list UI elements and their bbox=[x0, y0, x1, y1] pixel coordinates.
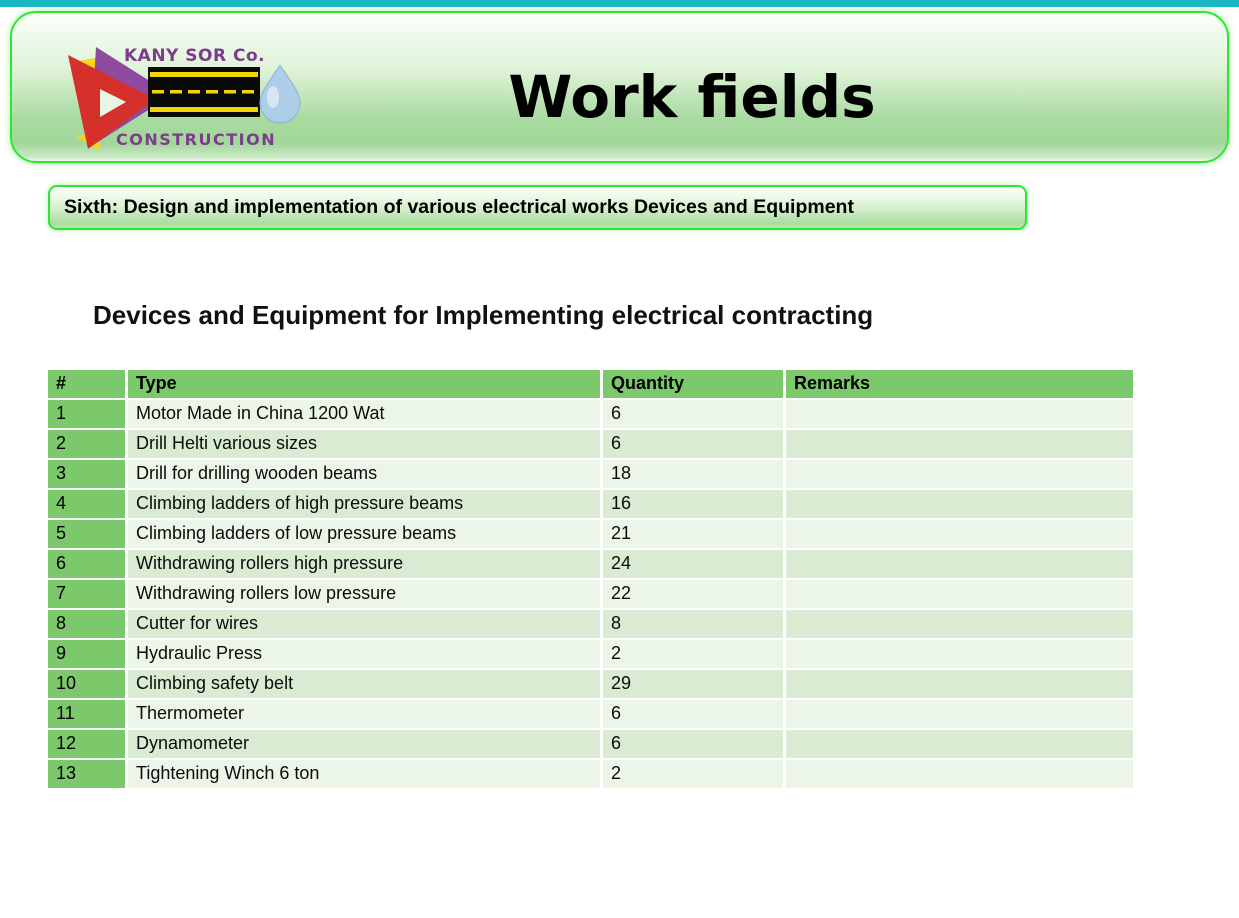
company-logo: KANY SOR Co. CONSTRUCTION bbox=[60, 39, 310, 154]
table-row: 12Dynamometer6 bbox=[48, 730, 1133, 760]
cell-remarks bbox=[786, 670, 1133, 700]
table-row: 9Hydraulic Press2 bbox=[48, 640, 1133, 670]
cell-quantity: 8 bbox=[603, 610, 786, 640]
cell-type: Cutter for wires bbox=[128, 610, 603, 640]
cell-quantity: 29 bbox=[603, 670, 786, 700]
column-header-quantity: Quantity bbox=[603, 370, 786, 398]
column-header-remarks: Remarks bbox=[786, 370, 1133, 398]
column-header-type: Type bbox=[128, 370, 603, 398]
header-banner: KANY SOR Co. CONSTRUCTION Work fields bbox=[10, 11, 1229, 163]
top-accent-bar bbox=[0, 0, 1239, 7]
cell-remarks bbox=[786, 580, 1133, 610]
cell-type: Dynamometer bbox=[128, 730, 603, 760]
equipment-table: # Type Quantity Remarks 1Motor Made in C… bbox=[48, 370, 1133, 790]
cell-type: Thermometer bbox=[128, 700, 603, 730]
cell-remarks bbox=[786, 460, 1133, 490]
cell-number: 3 bbox=[48, 460, 128, 490]
cell-remarks bbox=[786, 760, 1133, 790]
table-header-row: # Type Quantity Remarks bbox=[48, 370, 1133, 398]
cell-type: Motor Made in China 1200 Wat bbox=[128, 398, 603, 430]
cell-type: Drill for drilling wooden beams bbox=[128, 460, 603, 490]
table-row: 13Tightening Winch 6 ton2 bbox=[48, 760, 1133, 790]
cell-quantity: 6 bbox=[603, 398, 786, 430]
column-header-number: # bbox=[48, 370, 128, 398]
cell-remarks bbox=[786, 430, 1133, 460]
table-row: 7Withdrawing rollers low pressure22 bbox=[48, 580, 1133, 610]
cell-type: Climbing safety belt bbox=[128, 670, 603, 700]
cell-number: 9 bbox=[48, 640, 128, 670]
cell-number: 8 bbox=[48, 610, 128, 640]
table-row: 3Drill for drilling wooden beams18 bbox=[48, 460, 1133, 490]
svg-text:KANY SOR Co.: KANY SOR Co. bbox=[124, 46, 265, 66]
table-row: 6Withdrawing rollers high pressure24 bbox=[48, 550, 1133, 580]
cell-type: Climbing ladders of low pressure beams bbox=[128, 520, 603, 550]
cell-remarks bbox=[786, 490, 1133, 520]
cell-type: Climbing ladders of high pressure beams bbox=[128, 490, 603, 520]
cell-quantity: 22 bbox=[603, 580, 786, 610]
table-header: # Type Quantity Remarks bbox=[48, 370, 1133, 398]
cell-remarks bbox=[786, 730, 1133, 760]
table-row: 2Drill Helti various sizes6 bbox=[48, 430, 1133, 460]
cell-quantity: 6 bbox=[603, 700, 786, 730]
cell-number: 4 bbox=[48, 490, 128, 520]
cell-remarks bbox=[786, 610, 1133, 640]
cell-quantity: 2 bbox=[603, 640, 786, 670]
cell-number: 13 bbox=[48, 760, 128, 790]
table-body: 1Motor Made in China 1200 Wat62Drill Hel… bbox=[48, 398, 1133, 790]
cell-number: 7 bbox=[48, 580, 128, 610]
cell-quantity: 2 bbox=[603, 760, 786, 790]
cell-type: Hydraulic Press bbox=[128, 640, 603, 670]
cell-number: 1 bbox=[48, 398, 128, 430]
cell-quantity: 18 bbox=[603, 460, 786, 490]
table-row: 11Thermometer6 bbox=[48, 700, 1133, 730]
cell-quantity: 6 bbox=[603, 730, 786, 760]
table-row: 1Motor Made in China 1200 Wat6 bbox=[48, 398, 1133, 430]
cell-type: Withdrawing rollers low pressure bbox=[128, 580, 603, 610]
table-row: 4Climbing ladders of high pressure beams… bbox=[48, 490, 1133, 520]
cell-number: 10 bbox=[48, 670, 128, 700]
cell-remarks bbox=[786, 700, 1133, 730]
section-heading: Devices and Equipment for Implementing e… bbox=[93, 300, 873, 331]
table-row: 8Cutter for wires8 bbox=[48, 610, 1133, 640]
cell-remarks bbox=[786, 398, 1133, 430]
cell-type: Drill Helti various sizes bbox=[128, 430, 603, 460]
cell-number: 11 bbox=[48, 700, 128, 730]
page-title: Work fields bbox=[342, 63, 1042, 131]
cell-remarks bbox=[786, 520, 1133, 550]
cell-quantity: 24 bbox=[603, 550, 786, 580]
cell-remarks bbox=[786, 640, 1133, 670]
svg-text:CONSTRUCTION: CONSTRUCTION bbox=[116, 130, 276, 149]
cell-type: Tightening Winch 6 ton bbox=[128, 760, 603, 790]
table-row: 5Climbing ladders of low pressure beams2… bbox=[48, 520, 1133, 550]
cell-number: 2 bbox=[48, 430, 128, 460]
cell-quantity: 16 bbox=[603, 490, 786, 520]
subtitle-text: Sixth: Design and implementation of vari… bbox=[64, 196, 854, 219]
cell-quantity: 6 bbox=[603, 430, 786, 460]
table-row: 10Climbing safety belt29 bbox=[48, 670, 1133, 700]
cell-number: 6 bbox=[48, 550, 128, 580]
cell-quantity: 21 bbox=[603, 520, 786, 550]
subtitle-bar: Sixth: Design and implementation of vari… bbox=[48, 185, 1027, 230]
cell-number: 5 bbox=[48, 520, 128, 550]
cell-type: Withdrawing rollers high pressure bbox=[128, 550, 603, 580]
cell-remarks bbox=[786, 550, 1133, 580]
cell-number: 12 bbox=[48, 730, 128, 760]
